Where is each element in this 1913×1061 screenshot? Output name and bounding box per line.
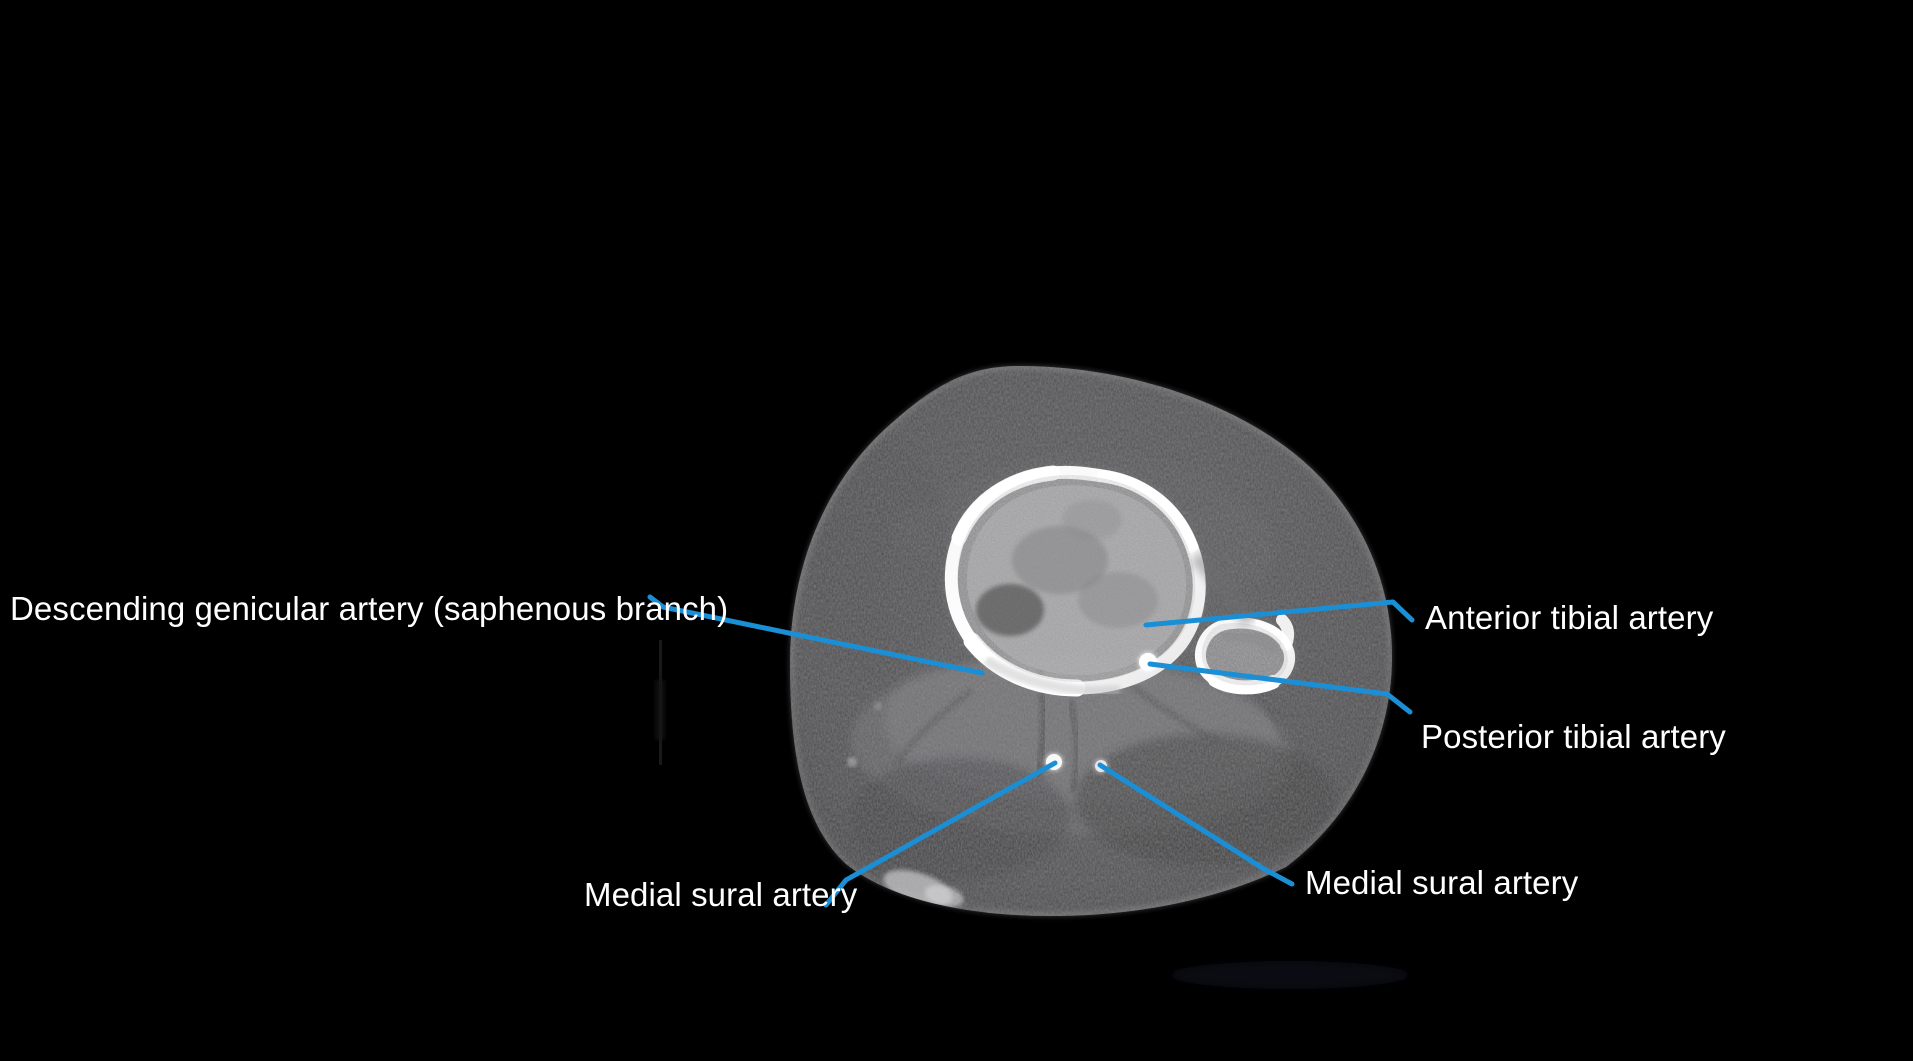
ct-image-viewer: Descending genicular artery (saphenous b… bbox=[0, 0, 1913, 1061]
annotation-label-layer: Descending genicular artery (saphenous b… bbox=[0, 0, 1913, 1061]
annotation-label-medial-sural-artery-right: Medial sural artery bbox=[1305, 866, 1578, 899]
annotation-label-posterior-tibial-artery: Posterior tibial artery bbox=[1421, 720, 1726, 753]
annotation-label-descending-genicular-artery: Descending genicular artery (saphenous b… bbox=[10, 592, 728, 625]
annotation-label-medial-sural-artery-left: Medial sural artery bbox=[584, 878, 857, 911]
annotation-label-anterior-tibial-artery: Anterior tibial artery bbox=[1425, 601, 1713, 634]
